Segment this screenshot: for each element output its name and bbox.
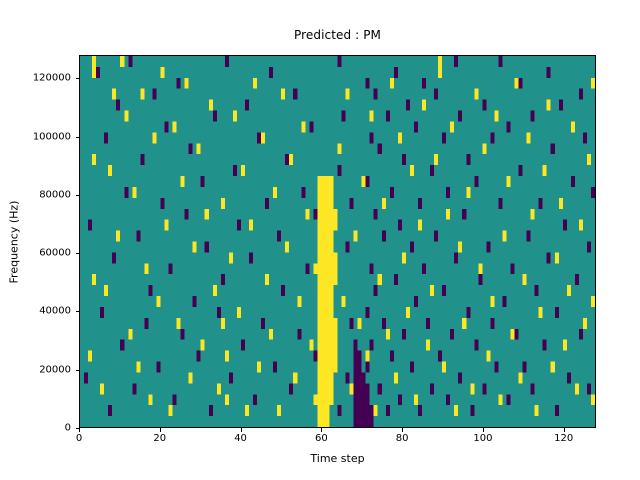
x-tick-mark: [321, 428, 322, 432]
heatmap-image: [80, 56, 595, 427]
x-tick-label: 40: [234, 433, 247, 444]
x-tick-mark: [564, 428, 565, 432]
x-tick-mark: [79, 428, 80, 432]
y-tick-label: 40000: [39, 306, 71, 317]
y-tick-label: 20000: [39, 364, 71, 375]
y-tick-mark: [76, 253, 80, 254]
x-axis-label: Time step: [79, 452, 596, 465]
y-tick-mark: [76, 311, 80, 312]
x-tick-label: 0: [76, 433, 82, 444]
x-tick-label: 100: [473, 433, 492, 444]
heatmap-plot-area: [79, 55, 596, 428]
y-tick-mark: [76, 137, 80, 138]
y-tick-mark: [76, 428, 80, 429]
matplotlib-figure: Predicted : PM 0204060801001200200004000…: [0, 0, 640, 480]
y-tick-mark: [76, 195, 80, 196]
y-tick-mark: [76, 78, 80, 79]
y-tick-label: 0: [65, 423, 71, 434]
y-tick-mark: [76, 370, 80, 371]
y-tick-label: 100000: [33, 131, 71, 142]
y-tick-label: 60000: [39, 248, 71, 259]
y-tick-label: 120000: [33, 73, 71, 84]
y-tick-label: 80000: [39, 189, 71, 200]
y-axis-label: Frequency (Hz): [8, 200, 21, 283]
page-title: Predicted : PM: [79, 28, 596, 42]
x-tick-label: 20: [153, 433, 166, 444]
x-tick-mark: [241, 428, 242, 432]
x-tick-label: 120: [554, 433, 573, 444]
x-tick-label: 60: [315, 433, 328, 444]
x-tick-label: 80: [396, 433, 409, 444]
x-tick-mark: [402, 428, 403, 432]
x-tick-mark: [483, 428, 484, 432]
x-tick-mark: [160, 428, 161, 432]
